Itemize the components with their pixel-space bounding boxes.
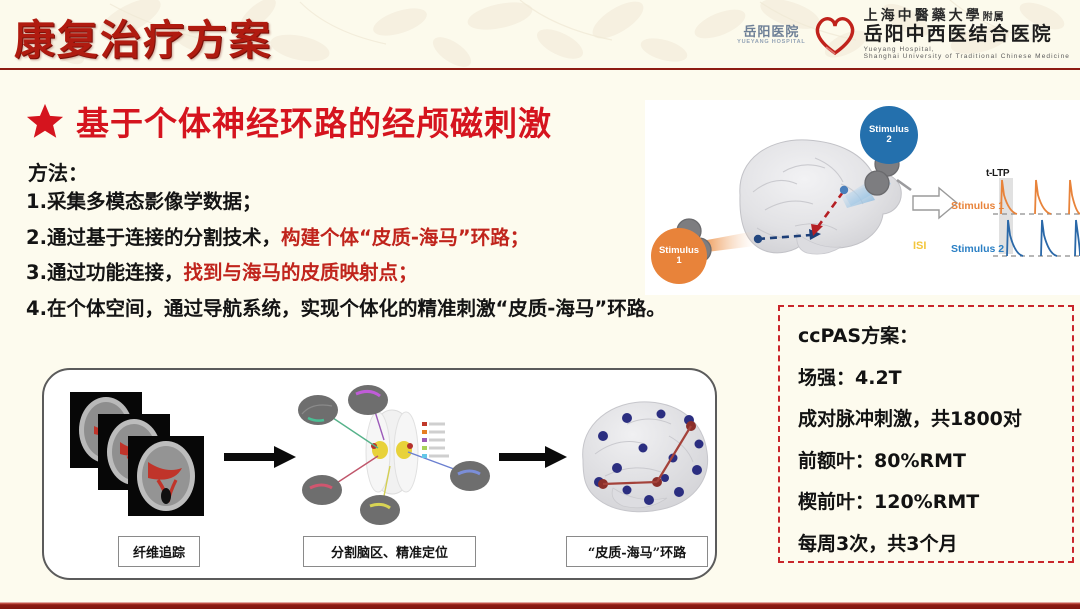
step-highlight: 找到与海马的皮质映射点； bbox=[184, 261, 418, 284]
heart-icon bbox=[812, 13, 858, 57]
step-index: 1. bbox=[26, 190, 47, 213]
step-item: 4.在个体空间，通过导航系统，实现个体化的精准刺激“皮质-海马”环路。 bbox=[26, 299, 816, 319]
method-label: 方法： bbox=[28, 157, 88, 186]
ltp-trace-plot bbox=[993, 178, 1080, 256]
logo-line-university: 上海中醫藥大學附属 bbox=[864, 9, 1070, 24]
mini-brain bbox=[348, 385, 388, 415]
logo-univ-sub: 附属 bbox=[983, 12, 1005, 23]
section-heading-text: 基于个体神经环路的经颅磁刺激 bbox=[76, 97, 552, 145]
slide-header: 康复治疗方案 岳阳医院 YUEYANG HOSPITAL 上海中醫藥大學附属 岳… bbox=[0, 0, 1080, 70]
ccpas-schematic-figure: Stimulus 1 Stimulus 2 ISI t-LTP Stimulus… bbox=[645, 100, 1080, 295]
mini-brain bbox=[450, 461, 490, 491]
header-divider bbox=[0, 68, 1080, 70]
step-text: 通过功能连接， bbox=[47, 261, 184, 284]
logo-text-block: 上海中醫藥大學附属 岳阳中西医结合医院 Yueyang Hospital, Sh… bbox=[864, 9, 1070, 61]
trace-legend-stimulus-2: Stimulus 2 bbox=[951, 243, 1004, 255]
step-text: 通过基于连接的分割技术， bbox=[47, 226, 281, 249]
workflow-panel: 纤维追踪 bbox=[42, 368, 717, 580]
workflow-caption: 分割脑区、精准定位 bbox=[303, 536, 476, 567]
ccpas-line: ccPAS方案： bbox=[798, 321, 1072, 348]
slide-root: 康复治疗方案 岳阳医院 YUEYANG HOSPITAL 上海中醫藥大學附属 岳… bbox=[0, 0, 1080, 609]
logo-badge-en: YUEYANG HOSPITAL bbox=[737, 40, 805, 46]
workflow-caption: 纤维追踪 bbox=[118, 536, 200, 567]
stimulus-2-bubble: Stimulus 2 bbox=[860, 106, 918, 164]
logo-univ-main: 上海中醫藥大學 bbox=[864, 8, 983, 24]
star-icon bbox=[26, 102, 64, 140]
stimulus-1-bubble: Stimulus 1 bbox=[651, 228, 707, 284]
mri-slice-stack bbox=[70, 392, 206, 520]
logo-badge: 岳阳医院 YUEYANG HOSPITAL bbox=[737, 25, 805, 46]
step-text: 在个体空间，通过导航系统，实现个体化的精准刺激“皮质-海马”环路。 bbox=[47, 297, 666, 320]
section-heading: 基于个体神经环路的经颅磁刺激 bbox=[26, 97, 552, 145]
workflow-caption: “皮质-海马”环路 bbox=[566, 536, 708, 567]
brain-parcellation-network bbox=[294, 384, 494, 529]
ccpas-line: 前额叶：80%RMT bbox=[798, 446, 1072, 473]
trace-legend-stimulus-1: Stimulus 1 bbox=[951, 200, 1004, 212]
isi-label: ISI bbox=[913, 240, 926, 252]
step-index: 3. bbox=[26, 261, 47, 284]
mini-brain bbox=[298, 395, 338, 425]
footer-divider bbox=[0, 602, 1080, 609]
page-title: 康复治疗方案 bbox=[14, 6, 272, 66]
mini-brain bbox=[360, 495, 400, 525]
logo-line-en2: Shanghai University of Traditional Chine… bbox=[864, 54, 1070, 61]
ccpas-line: 场强：4.2T bbox=[798, 363, 1072, 390]
logo-line-en1: Yueyang Hospital, bbox=[864, 47, 1070, 54]
t-ltp-label: t-LTP bbox=[986, 168, 1009, 179]
ccpas-protocol-box: ccPAS方案： 场强：4.2T 成对脉冲刺激，共1800对 前额叶：80%RM… bbox=[778, 305, 1074, 563]
network-legend bbox=[422, 422, 449, 458]
logo-badge-cn: 岳阳医院 bbox=[743, 25, 799, 38]
step-index: 4. bbox=[26, 297, 47, 320]
ccpas-line: 每周3次，共3个月 bbox=[798, 529, 1072, 556]
mini-brain bbox=[302, 475, 342, 505]
step-text: 采集多模态影像学数据； bbox=[47, 190, 262, 213]
cortico-hippocampal-circuit-brain bbox=[569, 384, 717, 529]
logo-line-hospital: 岳阳中西医结合医院 bbox=[864, 25, 1070, 45]
step-highlight: 构建个体“皮质-海马”环路； bbox=[281, 226, 529, 249]
right-arrow-icon bbox=[499, 446, 567, 468]
ccpas-line: 楔前叶：120%RMT bbox=[798, 487, 1072, 514]
stimulus-1-number: 1 bbox=[676, 256, 681, 266]
mri-slice bbox=[128, 436, 204, 516]
step-index: 2. bbox=[26, 226, 47, 249]
hospital-logo: 岳阳医院 YUEYANG HOSPITAL 上海中醫藥大學附属 岳阳中西医结合医… bbox=[737, 6, 1070, 64]
stimulus-2-number: 2 bbox=[886, 135, 891, 145]
right-arrow-icon bbox=[224, 446, 296, 468]
ccpas-line: 成对脉冲刺激，共1800对 bbox=[798, 404, 1072, 431]
